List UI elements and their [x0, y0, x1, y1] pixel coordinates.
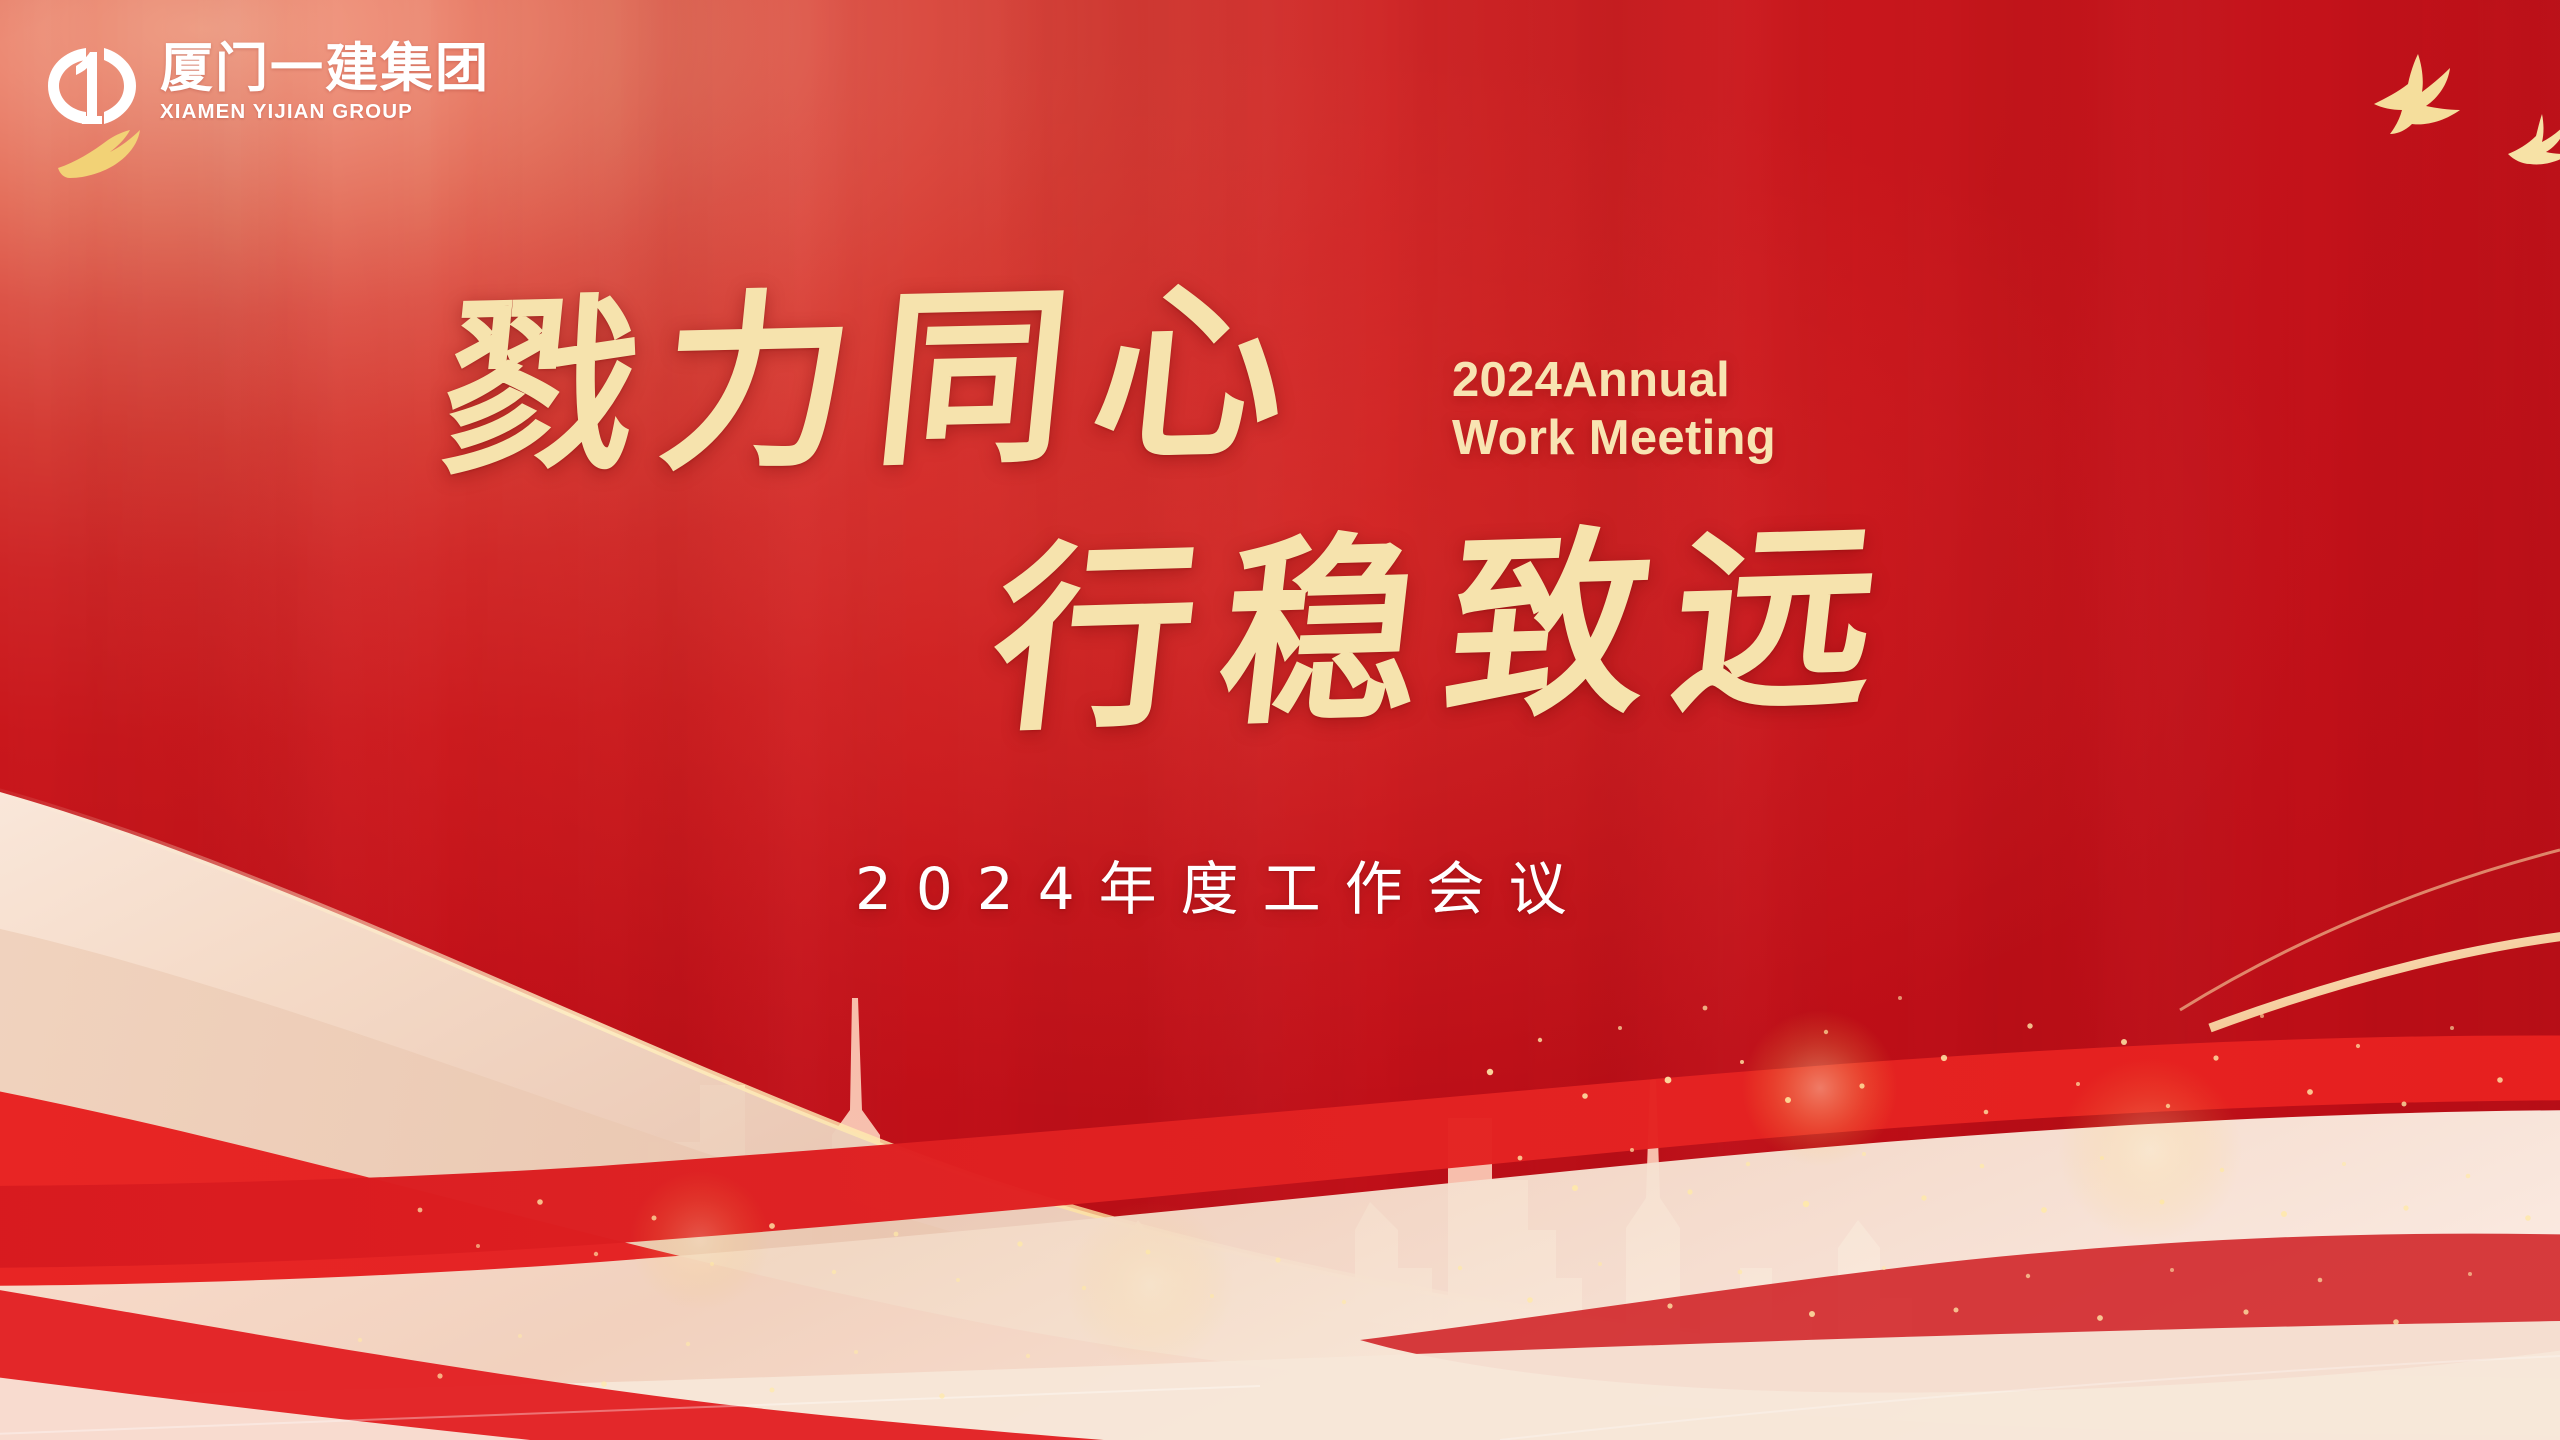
- dove-icon: [52, 122, 162, 194]
- xiamen-yijian-emblem-icon: [46, 42, 138, 130]
- wave-ribbon-icon: [0, 680, 2560, 1440]
- brand-name-cn: 厦门一建集团: [160, 42, 490, 97]
- poster-canvas: 厦门一建集团 XIAMEN YIJIAN GROUP 戮力同心 行稳致远 202…: [0, 0, 2560, 1440]
- brand-name-en: XIAMEN YIJIAN GROUP: [160, 100, 490, 124]
- brand-logo[interactable]: 厦门一建集团 XIAMEN YIJIAN GROUP: [46, 38, 490, 130]
- dove-icon: [2370, 52, 2462, 134]
- dove-icon: [2508, 112, 2560, 168]
